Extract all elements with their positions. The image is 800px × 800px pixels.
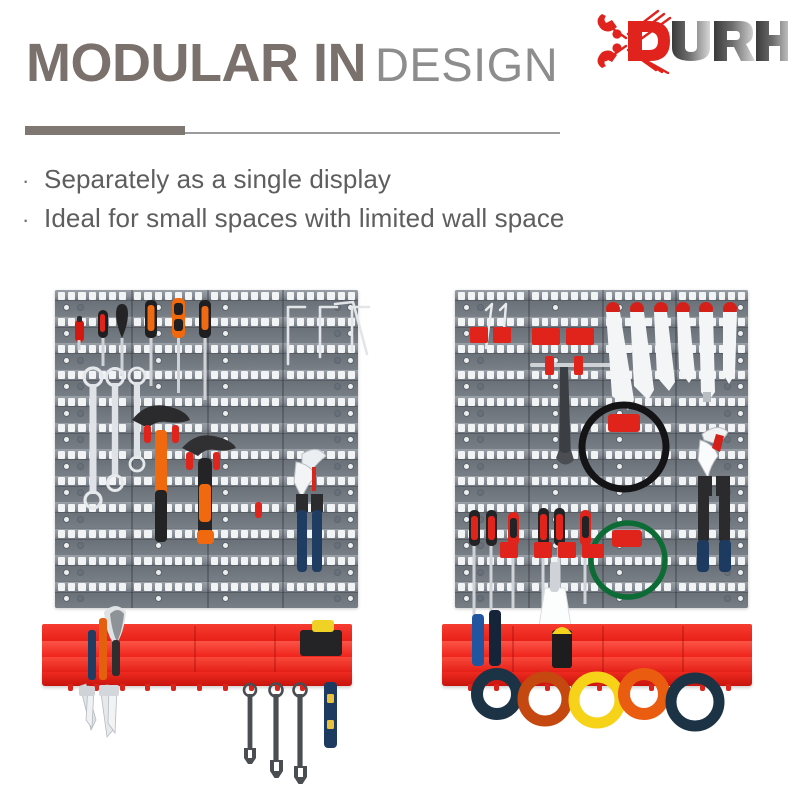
bullet-text: Separately as a single display [44, 165, 391, 195]
product-photo-area [0, 262, 800, 800]
list-item: · Ideal for small spaces with limited wa… [22, 204, 662, 234]
page-title-light: DESIGN [375, 38, 558, 91]
divider-rule [185, 132, 560, 134]
tape-roll-orange-dark [523, 677, 567, 721]
blue-handled-tool-1 [472, 614, 484, 666]
yellow-cap-tool [552, 627, 572, 668]
product-feature-slide: MODULAR INDESIGN [0, 0, 800, 800]
title-divider [25, 126, 560, 136]
feature-bullet-list: · Separately as a single display · Ideal… [22, 165, 662, 243]
right-shelf-tools [0, 262, 800, 800]
bullet-marker: · [22, 209, 44, 231]
blue-handled-tool-2 [489, 610, 501, 666]
bullet-text: Ideal for small spaces with limited wall… [44, 204, 564, 234]
durhand-logo [592, 8, 788, 74]
list-item: · Separately as a single display [22, 165, 662, 195]
page-title-bold: MODULAR IN [26, 33, 366, 93]
tape-roll-yellow [574, 677, 620, 723]
tape-roll-navy-2 [671, 678, 719, 726]
page-title: MODULAR INDESIGN [26, 36, 558, 90]
divider-bar [25, 126, 185, 135]
tape-roll-navy-1 [477, 674, 517, 714]
durhand-logo-icon [592, 8, 788, 74]
bullet-marker: · [22, 170, 44, 192]
tape-roll-orange [624, 674, 664, 714]
